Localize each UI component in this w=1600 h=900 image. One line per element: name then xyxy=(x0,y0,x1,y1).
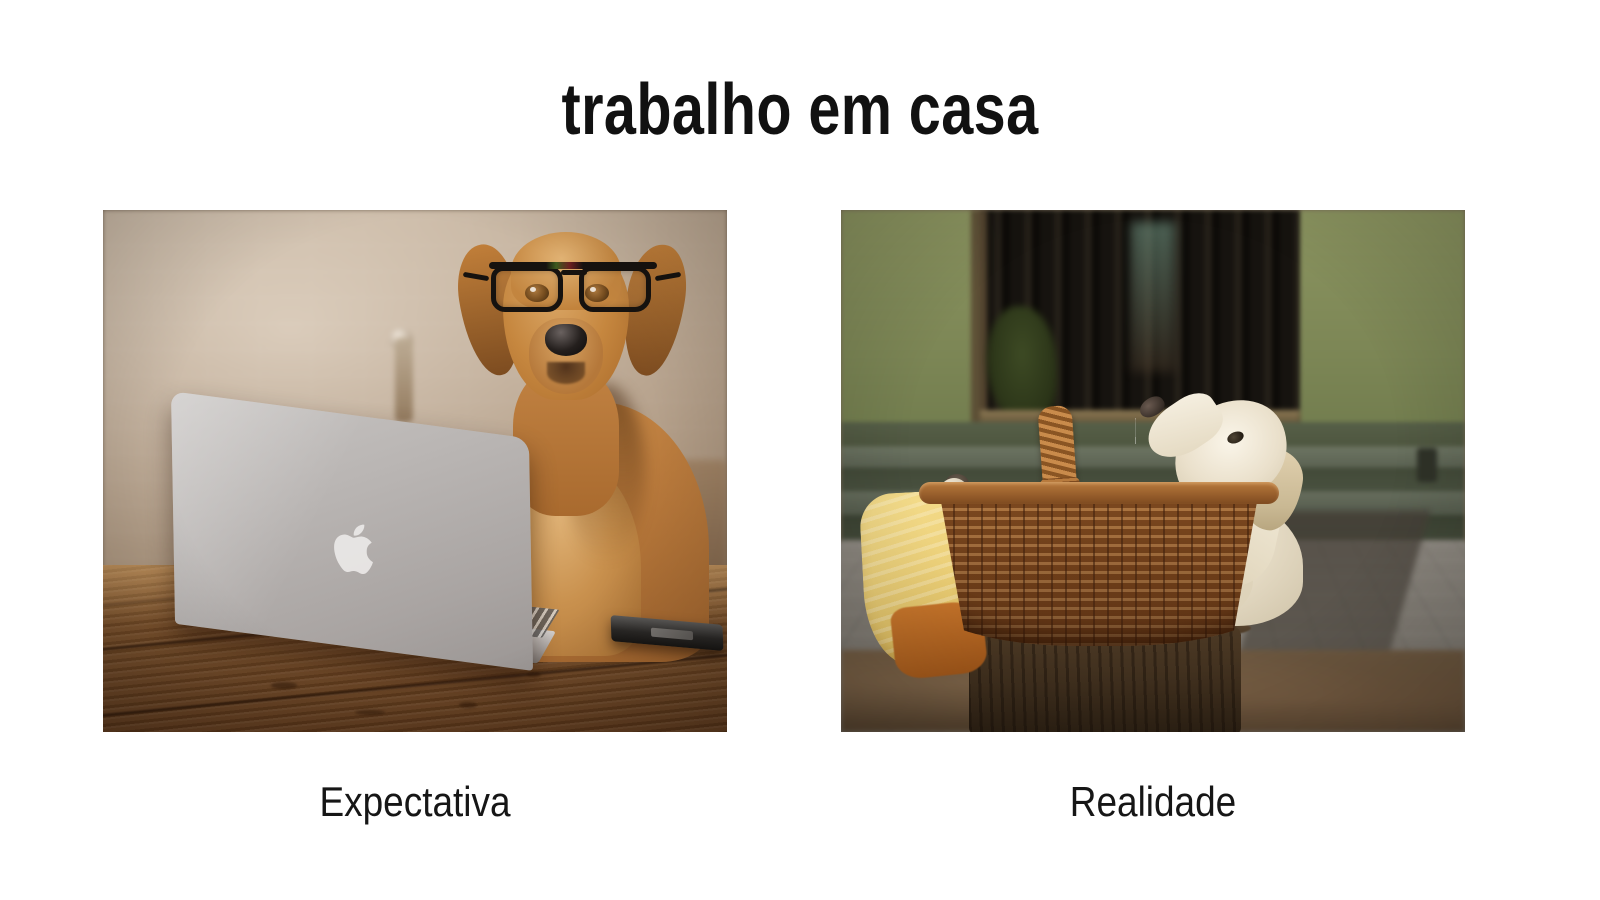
glasses-lens-right xyxy=(579,266,651,312)
wood-knot xyxy=(459,702,477,708)
eyeglasses-icon xyxy=(483,258,663,320)
doorway-glow xyxy=(1131,222,1175,372)
meme-page: trabalho em casa xyxy=(0,0,1600,900)
panel-reality: Realidade xyxy=(841,210,1465,826)
door-frame xyxy=(971,210,987,424)
dog-mouth xyxy=(547,362,585,384)
wood-knot xyxy=(271,682,297,689)
wood-knot xyxy=(355,710,385,715)
glasses-brow-bar xyxy=(489,262,657,269)
expectation-photo xyxy=(103,210,727,732)
wicker-basket xyxy=(925,490,1273,646)
page-title: trabalho em casa xyxy=(160,70,1440,150)
glasses-bridge xyxy=(561,270,587,275)
wall-fixture xyxy=(395,338,413,422)
panel-expectation: Expectativa xyxy=(103,210,727,826)
background-post xyxy=(1417,448,1437,482)
reality-photo xyxy=(841,210,1465,732)
caption-realidade: Realidade xyxy=(878,778,1427,826)
laptop-lid xyxy=(171,391,533,671)
caption-expectativa: Expectativa xyxy=(140,778,689,826)
wood-knot xyxy=(527,672,541,677)
puppy-whiskers xyxy=(1135,418,1179,444)
apple-logo-icon xyxy=(333,520,378,578)
dog-nose xyxy=(545,324,587,356)
glasses-lens-left xyxy=(491,266,563,312)
basket-rim xyxy=(919,482,1279,504)
comparison-panels: Expectativa xyxy=(0,210,1600,850)
